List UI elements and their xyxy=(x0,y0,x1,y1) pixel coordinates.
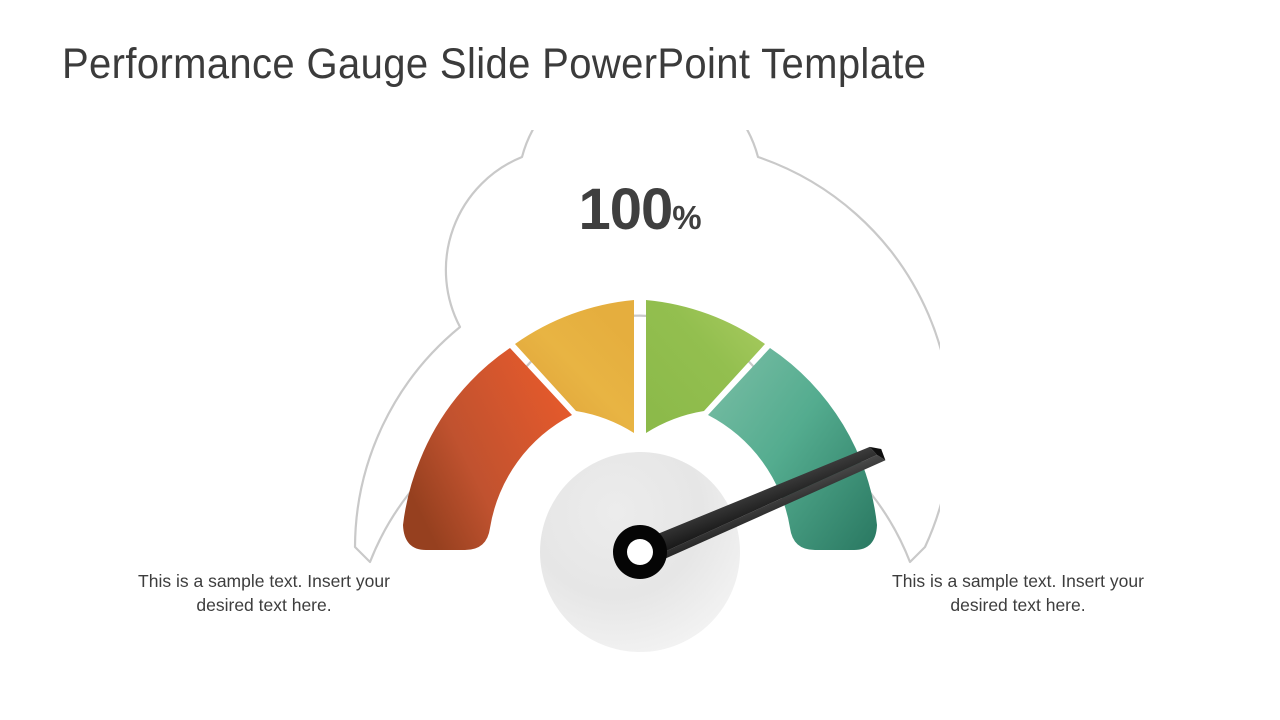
caption-right: This is a sample text. Insert your desir… xyxy=(873,570,1163,617)
page-title: Performance Gauge Slide PowerPoint Templ… xyxy=(62,40,926,89)
caption-left: This is a sample text. Insert your desir… xyxy=(119,570,409,617)
performance-gauge xyxy=(340,130,940,670)
gauge-svg xyxy=(340,130,940,670)
gauge-hub-ring[interactable] xyxy=(613,525,667,579)
slide-canvas: Performance Gauge Slide PowerPoint Templ… xyxy=(0,0,1280,720)
